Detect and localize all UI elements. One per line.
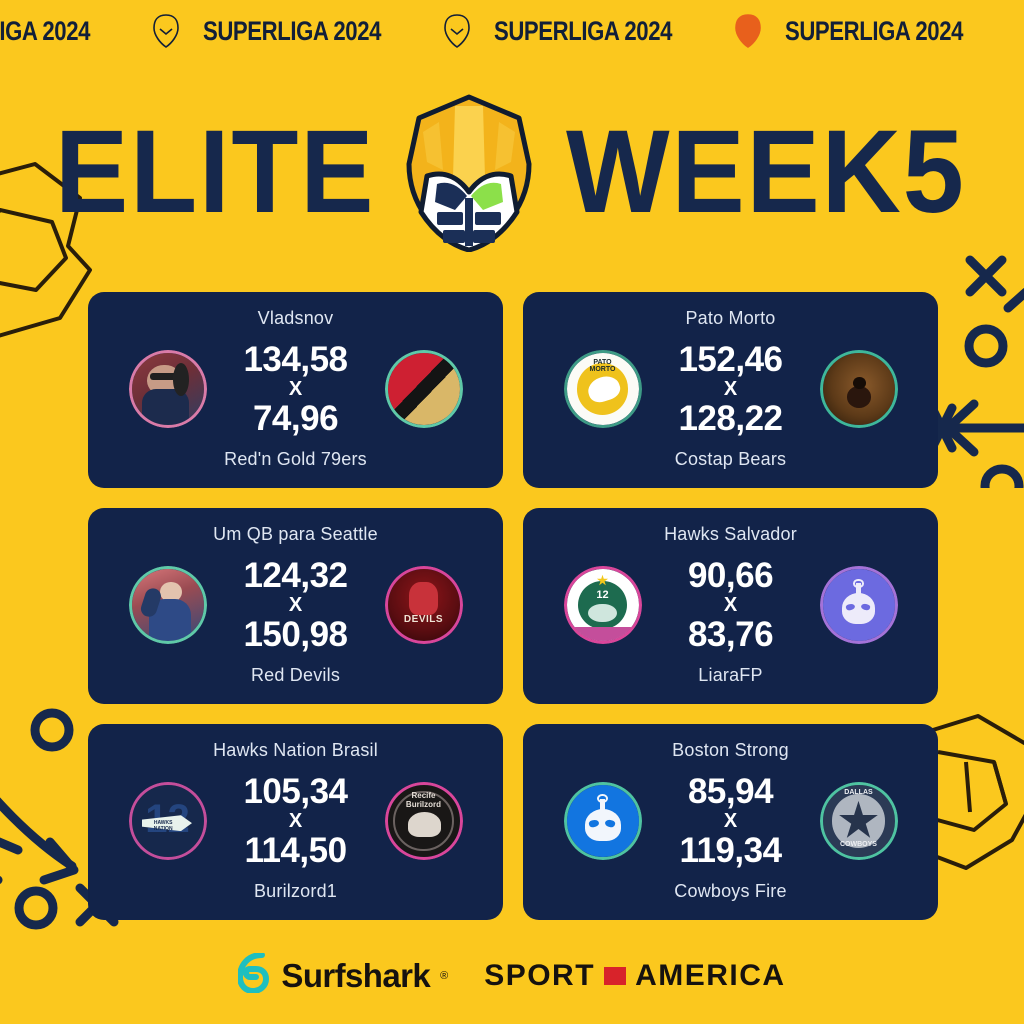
home-score: 134,58 (243, 342, 347, 378)
ticker-track: SUPERLIGA 2024 SUPERLIGA 2024 SUPERLIGA … (0, 13, 1024, 49)
celebration-photo-avatar (129, 566, 207, 644)
sport-america-logo[interactable]: SPORT AMERICA (484, 959, 785, 993)
matchup-card[interactable]: Pato Morto PATO MORTO 152,46 X 128,22 (523, 292, 938, 488)
title-word-week: WEEK5 (566, 113, 966, 231)
surfshark-wordmark: Surfshark (281, 957, 430, 995)
superliga-ticker-banner: SUPERLIGA 2024 SUPERLIGA 2024 SUPERLIGA … (0, 0, 1024, 62)
away-team-name: LiaraFP (698, 665, 762, 686)
red-square-icon (604, 967, 626, 985)
away-team-name: Costap Bears (675, 449, 786, 470)
sponsor-footer: Surfshark ® SPORT AMERICA (0, 953, 1024, 998)
home-team-name: Boston Strong (672, 740, 789, 761)
pato-morto-badge-avatar: PATO MORTO (564, 350, 642, 428)
score-block: 124,32 X 150,98 (221, 558, 371, 652)
recife-burilzord-badge-avatar: Recife Burilzord (385, 782, 463, 860)
score-block: 90,66 X 83,76 (656, 558, 806, 652)
matchup-card[interactable]: Hawks Salvador 12 90,66 X 83,76 (523, 508, 938, 704)
away-team-name: Red Devils (251, 665, 340, 686)
matchup-body: 12 90,66 X 83,76 (535, 558, 926, 652)
playbook-doodle-top-right (938, 248, 1024, 488)
home-score: 124,32 (243, 558, 347, 594)
blue-robot-avatar (564, 782, 642, 860)
helmet-outline-icon-accent (733, 13, 763, 49)
home-score: 90,66 (688, 558, 773, 594)
bear-photo-avatar (820, 350, 898, 428)
ticker-label: SUPERLIGA 2024 (494, 16, 672, 47)
score-separator: X (724, 810, 737, 833)
home-score: 105,34 (243, 774, 347, 810)
matchup-body: PATO MORTO 152,46 X 128,22 (535, 342, 926, 436)
score-separator: X (289, 594, 302, 617)
home-team-name: Vladsnov (258, 308, 334, 329)
matchup-body: 134,58 X 74,96 (100, 342, 491, 436)
surfshark-logo[interactable]: Surfshark ® (238, 953, 448, 998)
home-score: 152,46 (678, 342, 782, 378)
away-score: 119,34 (679, 833, 781, 869)
hawks-nation-12-avatar: 12 HAWKS NATION (129, 782, 207, 860)
home-team-name: Um QB para Seattle (213, 524, 378, 545)
purple-robot-avatar (820, 566, 898, 644)
sport-wordmark: SPORT (484, 959, 595, 993)
helmet-outline-icon (442, 13, 472, 49)
devils-logo-avatar: DEVILS (385, 566, 463, 644)
away-team-name: Burilzord1 (254, 881, 337, 902)
hawks-crest-avatar: 12 (564, 566, 642, 644)
ticker-label: SUPERLIGA 2024 (0, 16, 90, 47)
away-score: 74,96 (253, 401, 338, 437)
ticker-label: SUPERLIGA 2024 (785, 16, 963, 47)
home-team-name: Hawks Salvador (664, 524, 797, 545)
matchup-card[interactable]: Um QB para Seattle 124,32 X 150,98 DEVIL… (88, 508, 503, 704)
score-block: 105,34 X 114,50 (221, 774, 371, 868)
superliga-helmet-logo (393, 92, 545, 252)
home-team-name: Pato Morto (685, 308, 775, 329)
home-team-name: Hawks Nation Brasil (213, 740, 378, 761)
away-score: 150,98 (243, 617, 347, 653)
matchup-body: 85,94 X 119,34 DALLAS COWBOYS (535, 774, 926, 868)
matchup-card[interactable]: Hawks Nation Brasil 12 HAWKS NATION 105,… (88, 724, 503, 920)
america-wordmark: AMERICA (635, 959, 786, 993)
page-title: ELITE WEEK5 (0, 92, 1024, 252)
away-score: 128,22 (678, 401, 782, 437)
home-score: 85,94 (688, 774, 773, 810)
score-block: 85,94 X 119,34 (656, 774, 806, 868)
dallas-cowboys-star-avatar: DALLAS COWBOYS (820, 782, 898, 860)
surfshark-fin-icon (238, 953, 272, 998)
score-separator: X (724, 378, 737, 401)
matchup-card[interactable]: Boston Strong 85,94 X 119,34 (523, 724, 938, 920)
title-word-elite: ELITE (55, 113, 375, 231)
coach-photo-avatar (129, 350, 207, 428)
score-separator: X (289, 378, 302, 401)
score-block: 152,46 X 128,22 (656, 342, 806, 436)
away-score: 83,76 (688, 617, 773, 653)
matchup-body: 12 HAWKS NATION 105,34 X 114,50 Recife B… (100, 774, 491, 868)
ticker-label: SUPERLIGA 2024 (203, 16, 381, 47)
helmet-outline-icon (151, 13, 181, 49)
registered-trademark-icon: ® (440, 970, 448, 982)
matchup-body: 124,32 X 150,98 DEVILS (100, 558, 491, 652)
away-score: 114,50 (244, 833, 346, 869)
away-team-name: Red'n Gold 79ers (224, 449, 367, 470)
score-separator: X (724, 594, 737, 617)
score-separator: X (289, 810, 302, 833)
matchup-grid: Vladsnov 134,58 X 74,96 Red'n G (88, 292, 938, 920)
red-gold-diagonal-avatar (385, 350, 463, 428)
matchup-card[interactable]: Vladsnov 134,58 X 74,96 Red'n G (88, 292, 503, 488)
score-block: 134,58 X 74,96 (221, 342, 371, 436)
away-team-name: Cowboys Fire (674, 881, 786, 902)
